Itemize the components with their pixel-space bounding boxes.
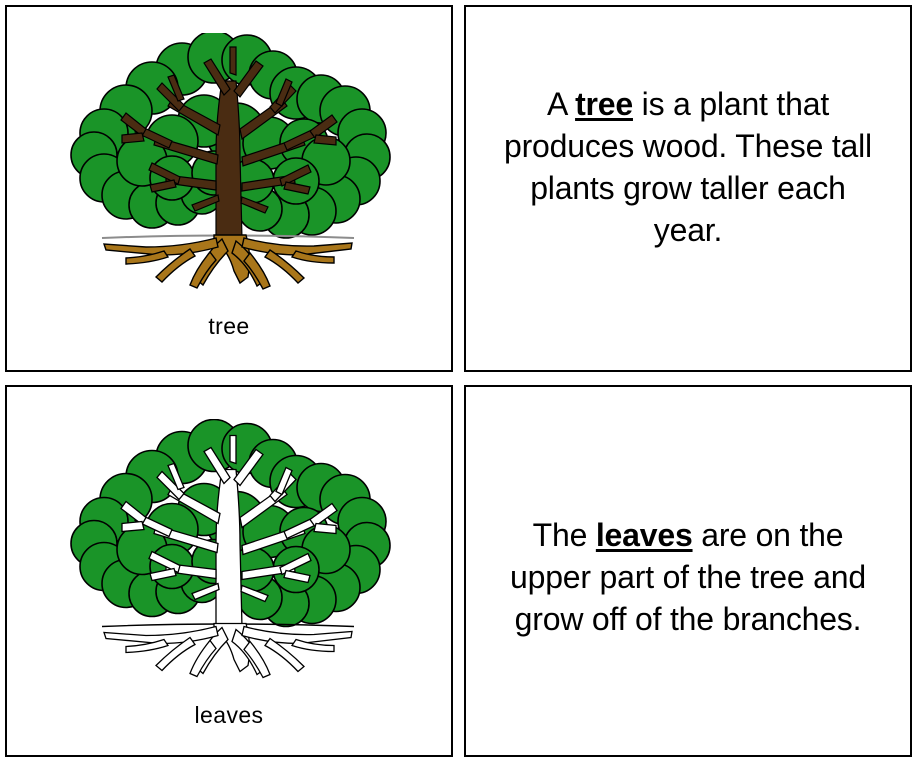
text-card-leaves[interactable]: The leaves are on the upper part of the … — [464, 385, 912, 757]
picture-card-leaves[interactable]: leaves — [5, 385, 453, 757]
text-card-tree[interactable]: A tree is a plant that produces wood. Th… — [464, 5, 912, 372]
tree-roots-group — [104, 235, 352, 289]
text-card-tree-inner: A tree is a plant that produces wood. Th… — [466, 7, 910, 370]
picture-card-tree[interactable]: tree — [5, 5, 453, 372]
sentence-leaves: The leaves are on the upper part of the … — [492, 514, 884, 640]
tree-full-color-icon — [64, 33, 394, 293]
sentence-tree: A tree is a plant that produces wood. Th… — [492, 83, 884, 251]
picture-card-label-leaves: leaves — [195, 704, 264, 727]
keyword-tree: tree — [575, 86, 633, 122]
text-card-leaves-inner: The leaves are on the upper part of the … — [466, 387, 910, 755]
picture-card-tree-inner: tree — [7, 7, 451, 370]
leaves-roots-group — [104, 624, 352, 678]
picture-card-leaves-inner: leaves — [7, 387, 451, 755]
sentence-tree-part-1: A — [547, 86, 575, 122]
picture-card-label-tree: tree — [208, 315, 249, 338]
tree-leaves-highlighted-icon — [64, 419, 394, 684]
nomenclature-card-sheet: tree A tree is a plant that produces woo… — [0, 0, 919, 765]
keyword-leaves: leaves — [596, 517, 693, 553]
sentence-leaves-part-1: The — [533, 517, 596, 553]
